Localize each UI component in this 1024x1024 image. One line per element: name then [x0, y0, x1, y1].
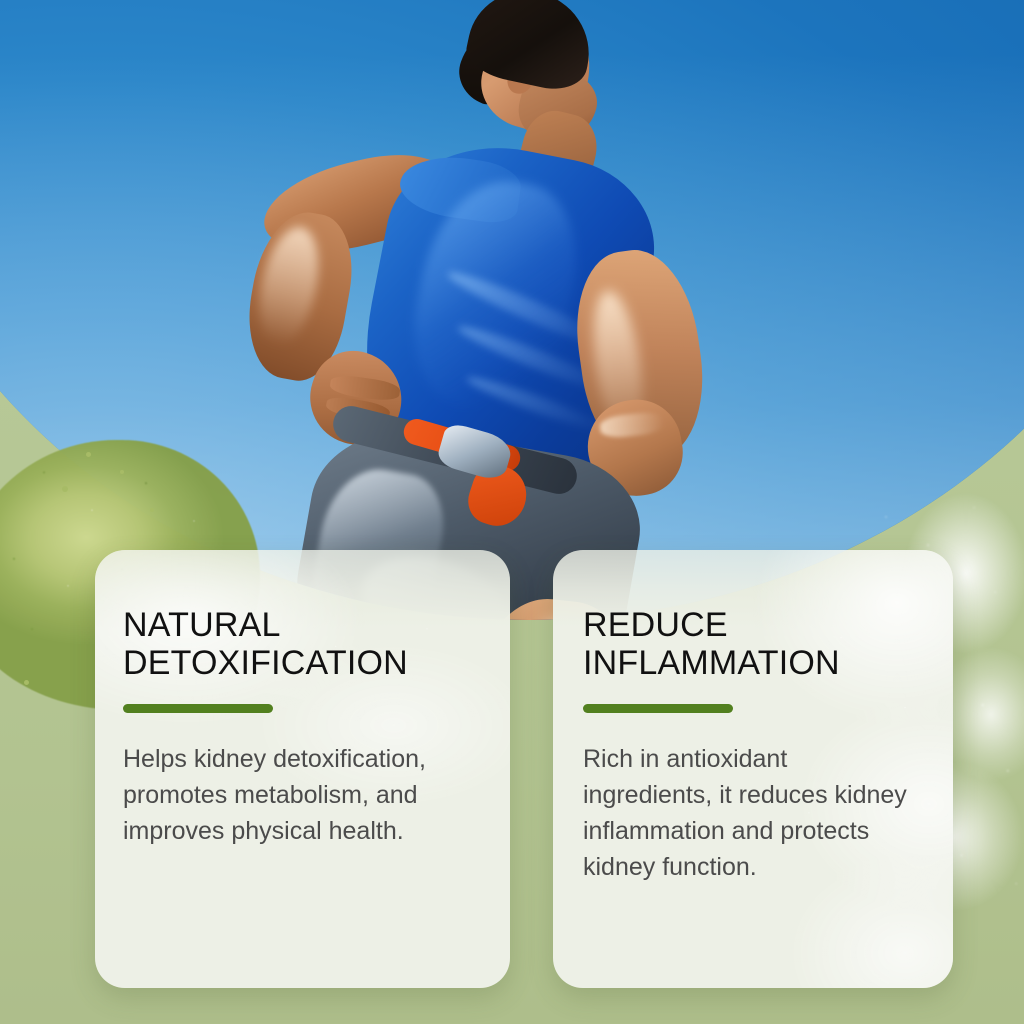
accent-rule — [123, 704, 273, 713]
benefit-cards: NATURAL DETOXIFICATION Helps kidney deto… — [0, 0, 1024, 1024]
card-content: NATURAL DETOXIFICATION Helps kidney deto… — [95, 550, 510, 849]
card-title: NATURAL DETOXIFICATION — [123, 606, 480, 682]
poster-canvas: NATURAL DETOXIFICATION Helps kidney deto… — [0, 0, 1024, 1024]
card-content: REDUCE INFLAMMATION Rich in antioxidant … — [553, 550, 953, 885]
benefit-card-natural-detoxification[interactable]: NATURAL DETOXIFICATION Helps kidney deto… — [95, 550, 510, 988]
card-title: REDUCE INFLAMMATION — [583, 606, 923, 682]
card-description: Rich in antioxidant ingredients, it redu… — [583, 741, 923, 885]
card-description: Helps kidney detoxification, promotes me… — [123, 741, 480, 849]
benefit-card-reduce-inflammation[interactable]: REDUCE INFLAMMATION Rich in antioxidant … — [553, 550, 953, 988]
accent-rule — [583, 704, 733, 713]
